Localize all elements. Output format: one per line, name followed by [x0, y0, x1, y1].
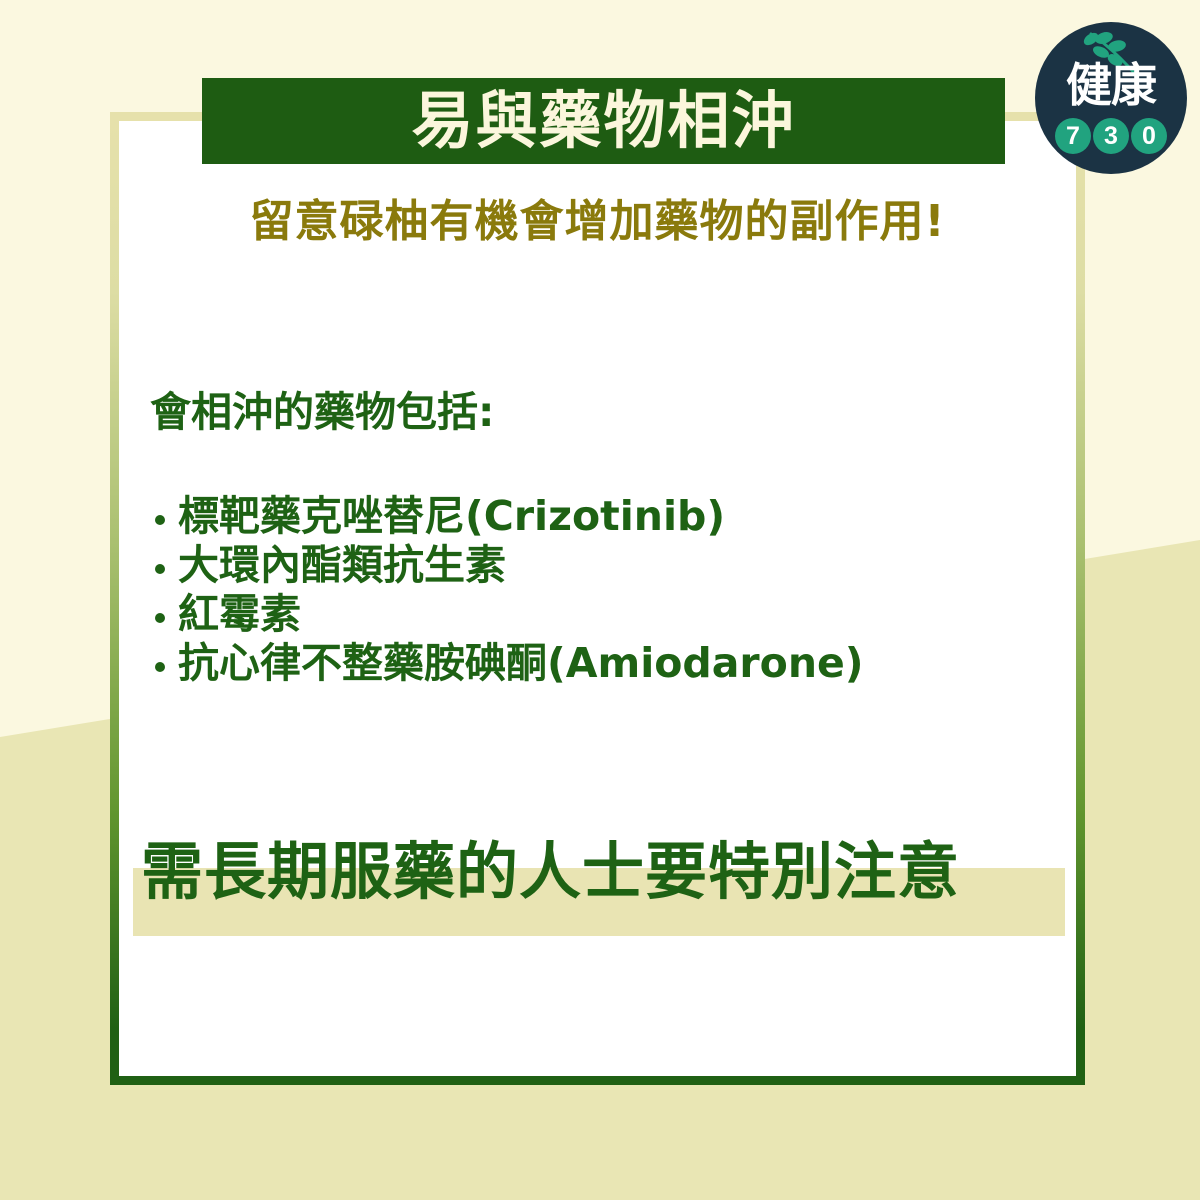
logo-digit-group: 7 3 0: [1035, 118, 1187, 154]
list-item-label: 大環內酯類抗生素: [178, 541, 506, 590]
bullet-dot-icon: [155, 613, 165, 623]
footer-highlight-text: 需長期服藥的人士要特別注意: [141, 838, 1073, 906]
title-banner: 易與藥物相沖: [202, 78, 1005, 164]
footer-highlight: 需長期服藥的人士要特別注意: [133, 868, 1065, 936]
list-item: 大環內酯類抗生素: [155, 541, 864, 590]
body-heading: 會相沖的藥物包括:: [150, 390, 494, 435]
page-title: 易與藥物相沖: [411, 90, 795, 152]
list-item: 紅霉素: [155, 590, 864, 639]
list-item-label: 抗心律不整藥胺碘酮(Amiodarone): [178, 639, 864, 688]
poster-root: 易與藥物相沖 留意碌柚有機會增加藥物的副作用! 會相沖的藥物包括: 標靶藥克唑替…: [0, 0, 1200, 1200]
subtitle-text: 留意碌柚有機會增加藥物的副作用!: [110, 198, 1085, 246]
list-item: 抗心律不整藥胺碘酮(Amiodarone): [155, 639, 864, 688]
logo-digit: 0: [1131, 118, 1167, 154]
brand-logo: 健康 7 3 0: [1035, 22, 1187, 174]
bullet-dot-icon: [155, 662, 165, 672]
logo-digit: 3: [1093, 118, 1129, 154]
bullet-dot-icon: [155, 515, 165, 525]
drug-interaction-list: 標靶藥克唑替尼(Crizotinib) 大環內酯類抗生素 紅霉素 抗心律不整藥胺…: [155, 492, 864, 688]
list-item-label: 標靶藥克唑替尼(Crizotinib): [178, 492, 725, 541]
logo-digit: 7: [1055, 118, 1091, 154]
logo-wordmark: 健康: [1035, 62, 1187, 108]
list-item-label: 紅霉素: [178, 590, 301, 639]
bullet-dot-icon: [155, 564, 165, 574]
list-item: 標靶藥克唑替尼(Crizotinib): [155, 492, 864, 541]
